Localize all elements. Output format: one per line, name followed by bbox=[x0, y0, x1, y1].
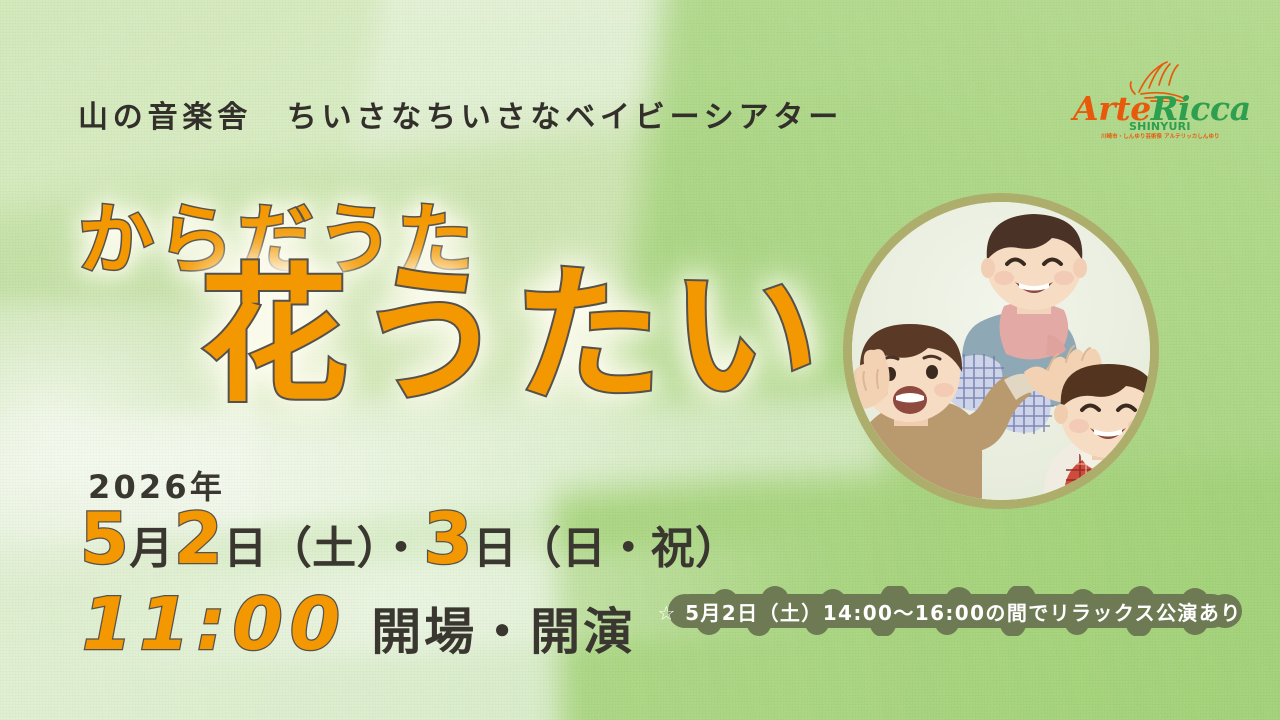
babies-photo bbox=[852, 202, 1150, 500]
event-time-label: 開場・開演 bbox=[371, 603, 636, 661]
date-part-day1-num: 2 bbox=[174, 498, 223, 580]
photo-ring bbox=[843, 193, 1159, 509]
date-part-day1-suffix: 日（土）・ bbox=[223, 523, 423, 574]
event-time: 11:00 bbox=[82, 582, 347, 666]
date-part-month-kanji: 月 bbox=[129, 523, 173, 574]
date-part-day2-suffix: 日（日・祝） bbox=[473, 523, 740, 574]
poster-subtitle: 山の音楽舎 ちいさなちいさなベイビーシアター bbox=[78, 92, 938, 136]
arte-ricca-logo[interactable]: ArteRicca SHINYURI 川崎市・しんゆり芸術祭 アルテリッカしんゆ… bbox=[1073, 58, 1213, 154]
date-part-month-num: 5 bbox=[80, 498, 129, 580]
relax-performance-badge: ☆ 5月2日（土）14:00〜16:00の間でリラックス公演あり bbox=[647, 586, 1252, 636]
babies-illustration bbox=[852, 202, 1150, 500]
event-date: 5月2日（土）・3日（日・祝） bbox=[80, 498, 740, 580]
poster-canvas: 山の音楽舎 ちいさなちいさなベイビーシアター からだうた 花うたい 2026年 … bbox=[0, 0, 1280, 720]
badge-label: ☆ 5月2日（土）14:00〜16:00の間でリラックス公演あり bbox=[647, 586, 1252, 636]
date-part-day2-num: 3 bbox=[423, 498, 472, 580]
event-time-row: 11:00開場・開演 bbox=[82, 582, 636, 666]
page-title: 花うたい bbox=[200, 262, 828, 410]
logo-fineprint: 川崎市・しんゆり芸術祭 アルテリッカしんゆり bbox=[1101, 132, 1220, 140]
